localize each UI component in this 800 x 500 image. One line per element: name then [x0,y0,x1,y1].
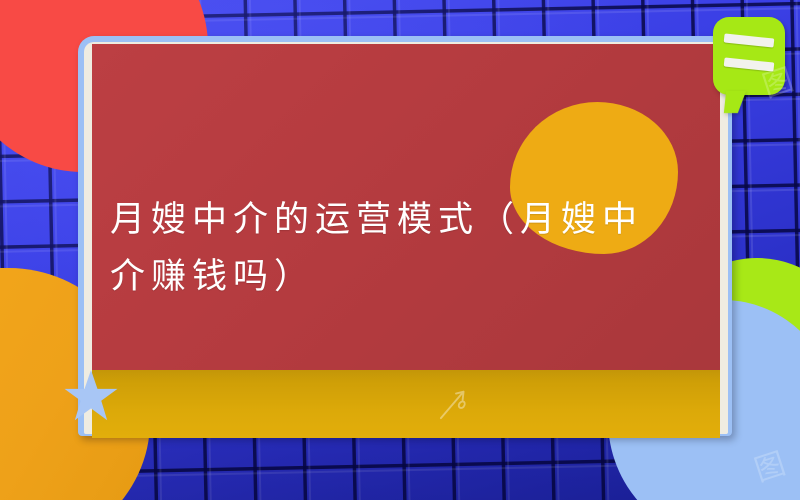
title-card: 月嫂中介的运营模式（月嫂中介赚钱吗） [92,44,720,438]
page-title: 月嫂中介的运营模式（月嫂中介赚钱吗） [110,192,670,306]
speech-bubble-icon [713,17,785,95]
title-card-image: 月嫂中介的运营模式（月嫂中介赚钱吗） 图 图 [0,0,800,500]
speech-bubble-tail [724,91,746,113]
card-bottom-bar [92,370,720,438]
watermark-mark-icon [437,386,475,420]
speech-bubble-body [713,17,785,95]
headline-text: 月嫂中介的运营模式（月嫂中介赚钱吗） [110,200,643,297]
